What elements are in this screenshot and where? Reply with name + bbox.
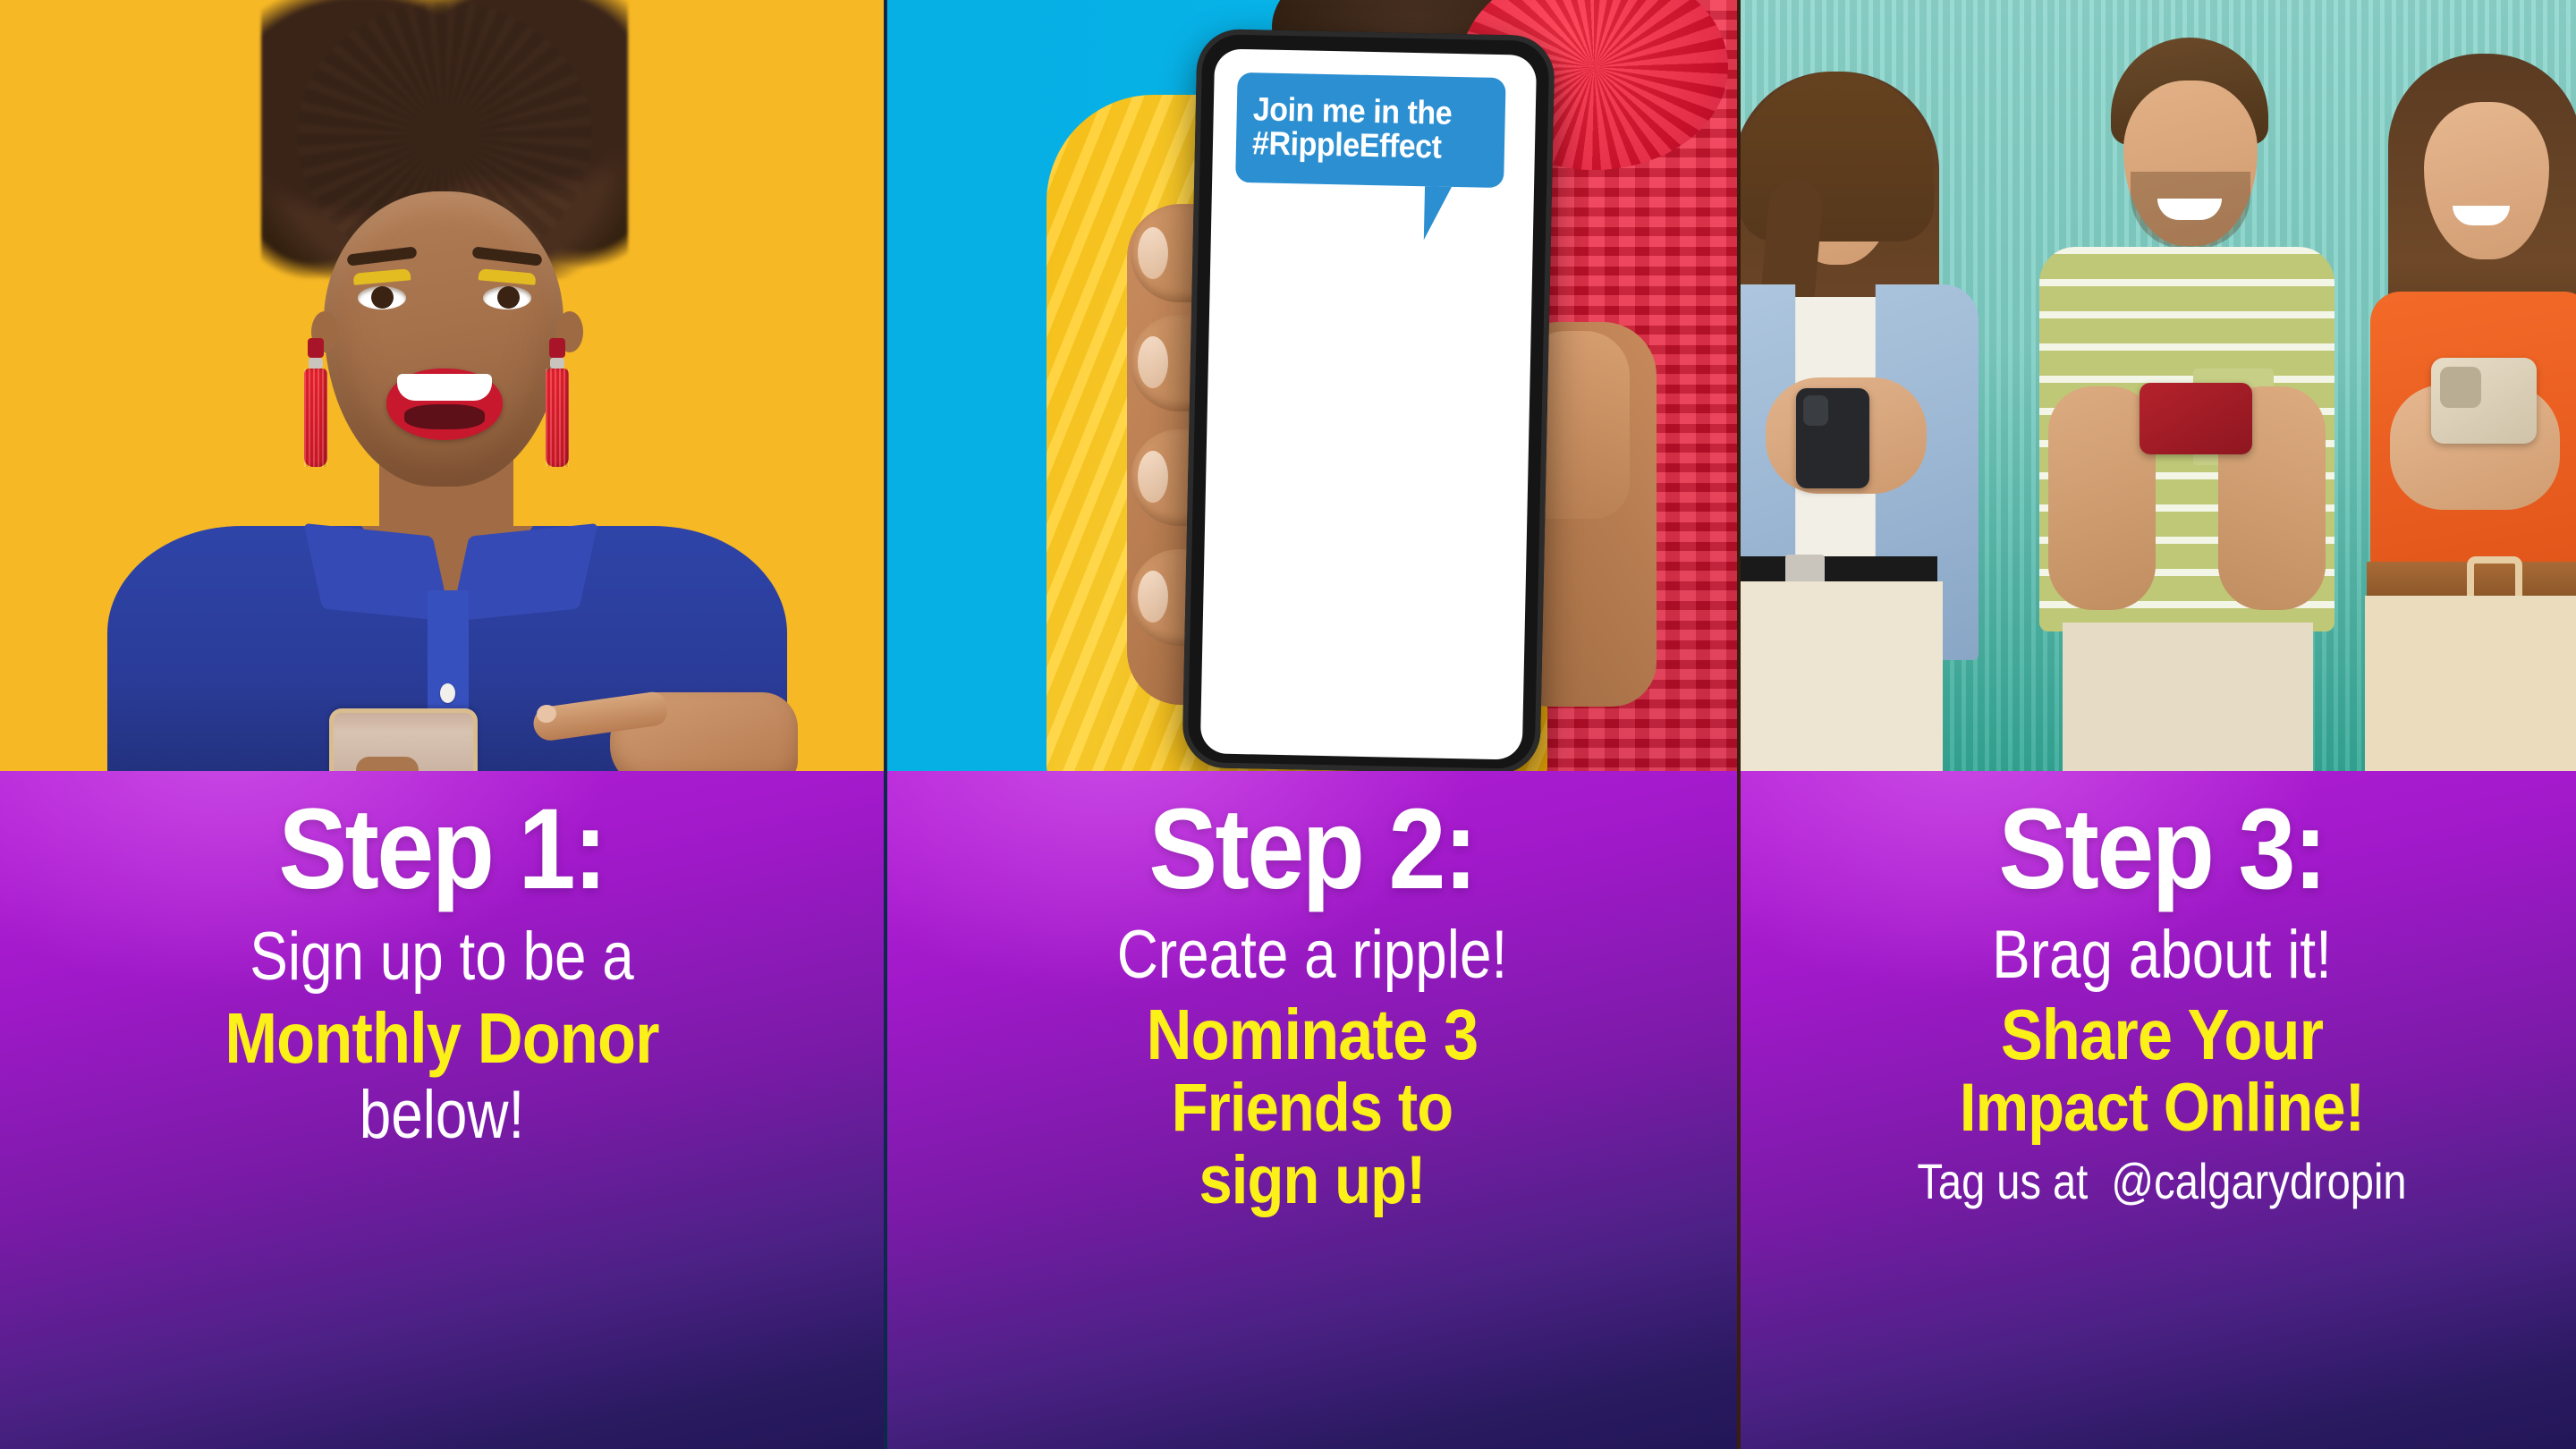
friend-left — [1741, 38, 2009, 771]
step-3-line-3-highlight: Impact Online! — [1792, 1072, 2533, 1145]
step-1-caption: Step 1: Sign up to be a Monthly Donor be… — [0, 771, 884, 1449]
iris-left — [371, 286, 394, 309]
social-tag-line: Tag us at @calgarydropin — [1808, 1154, 2515, 1209]
step-2-line-2-highlight: Nominate 3 — [938, 997, 1686, 1073]
step-2-line-4-highlight: sign up! — [938, 1145, 1686, 1217]
three-step-banner: Step 1: Sign up to be a Monthly Donor be… — [0, 0, 2576, 1449]
speech-bubble: Join me in the #RippleEffect — [1235, 72, 1506, 189]
step-panel-1: Step 1: Sign up to be a Monthly Donor be… — [0, 0, 884, 1449]
step-1-line-3: below! — [71, 1080, 813, 1152]
shirt-button — [440, 683, 455, 703]
step-2-caption: Step 2: Create a ripple! Nominate 3 Frie… — [887, 771, 1737, 1449]
phone-screen: Join me in the #RippleEffect — [1200, 48, 1537, 759]
inner-mouth — [404, 404, 485, 429]
pointing-hand — [533, 680, 801, 771]
shirt-collar-right — [451, 523, 598, 622]
step-3-photo — [1741, 0, 2576, 771]
step-2-title: Step 2: — [930, 792, 1695, 907]
speech-bubble-text: Join me in the #RippleEffect — [1252, 92, 1472, 165]
smartphone-mockup: Join me in the #RippleEffect — [1182, 29, 1555, 771]
step-3-title: Step 3: — [1783, 792, 2541, 907]
step-1-line-1: Sign up to be a — [71, 921, 813, 994]
step-3-caption: Step 3: Brag about it! Share Your Impact… — [1741, 771, 2576, 1449]
face — [324, 191, 563, 487]
friend-right — [2331, 29, 2576, 771]
thumb — [356, 757, 419, 771]
speech-bubble-tail — [1424, 187, 1475, 241]
step-panel-2: Join me in the #RippleEffect Step 2: Cre… — [887, 0, 1737, 1449]
step-panel-3: Step 3: Brag about it! Share Your Impact… — [1741, 0, 2576, 1449]
step-1-title: Step 1: — [44, 792, 839, 907]
step-1-photo — [0, 0, 884, 771]
step-3-line-1: Brag about it! — [1808, 919, 2515, 992]
iris-right — [497, 286, 520, 309]
step-3-line-2-highlight: Share Your — [1792, 997, 2533, 1073]
step-2-line-1: Create a ripple! — [955, 919, 1669, 992]
friend-middle — [2025, 29, 2347, 771]
tassel-earring-right — [546, 338, 569, 472]
tassel-earring-left — [304, 338, 327, 472]
step-2-line-3-highlight: Friends to — [938, 1072, 1686, 1145]
step-2-photo: Join me in the #RippleEffect — [887, 0, 1737, 771]
step-1-line-2-highlight: Monthly Donor — [53, 1001, 830, 1077]
teeth — [397, 374, 492, 401]
